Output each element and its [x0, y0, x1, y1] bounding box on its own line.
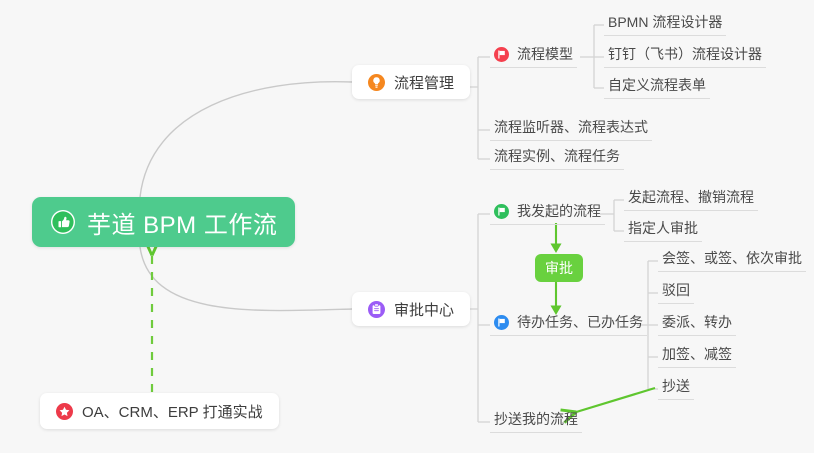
arrow-cc-to-ccme: [573, 388, 655, 413]
lightbulb-icon: [368, 74, 385, 91]
green-flag-icon: [494, 204, 509, 219]
node-multi-sign[interactable]: 会签、或签、依次审批: [658, 245, 806, 272]
node-process-model-label: 流程模型: [517, 44, 573, 64]
node-dingtalk-feishu-designer-label: 钉钉（飞书）流程设计器: [608, 44, 762, 64]
branch-approval-center-label: 审批中心: [394, 299, 454, 320]
node-reject[interactable]: 驳回: [658, 277, 694, 304]
node-add-remove-sign-label: 加签、减签: [662, 344, 732, 364]
node-bpmn-designer-label: BPMN 流程设计器: [608, 12, 722, 32]
node-todo-done-tasks-label: 待办任务、已办任务: [517, 312, 643, 332]
node-instance-task-label: 流程实例、流程任务: [494, 146, 620, 166]
branch-approval-center[interactable]: 审批中心: [352, 292, 470, 326]
node-dingtalk-feishu-designer[interactable]: 钉钉（飞书）流程设计器: [604, 41, 766, 68]
edge-root-to-approval-center: [140, 247, 352, 311]
node-cc-to-me[interactable]: 抄送我的流程: [490, 406, 582, 433]
node-custom-process-form-label: 自定义流程表单: [608, 75, 706, 95]
node-cc-label: 抄送: [662, 376, 690, 396]
node-start-cancel[interactable]: 发起流程、撤销流程: [624, 184, 758, 211]
node-bpmn-designer[interactable]: BPMN 流程设计器: [604, 9, 726, 36]
branch-process-management[interactable]: 流程管理: [352, 65, 470, 99]
node-add-remove-sign[interactable]: 加签、减签: [658, 341, 736, 368]
node-delegate-transfer-label: 委派、转办: [662, 312, 732, 332]
node-process-model[interactable]: 流程模型: [490, 41, 577, 68]
mindmap-canvas: 芋道 BPM 工作流 流程管理 审批中心: [0, 0, 814, 453]
node-my-initiated[interactable]: 我发起的流程: [490, 198, 605, 225]
node-multi-sign-label: 会签、或签、依次审批: [662, 248, 802, 268]
red-flag-icon: [494, 47, 509, 62]
branch-process-management-label: 流程管理: [394, 72, 454, 93]
annotation-approval-tag-label: 审批: [545, 258, 573, 278]
thumbs-up-icon: [50, 209, 76, 235]
annotation-integration-note[interactable]: OA、CRM、ERP 打通实战: [40, 393, 279, 429]
node-todo-done-tasks[interactable]: 待办任务、已办任务: [490, 309, 647, 336]
node-listener-expression-label: 流程监听器、流程表达式: [494, 117, 648, 137]
blue-flag-icon: [494, 315, 509, 330]
star-icon: [56, 403, 73, 420]
root-node-label: 芋道 BPM 工作流: [87, 205, 277, 240]
annotation-integration-note-label: OA、CRM、ERP 打通实战: [82, 401, 263, 422]
node-listener-expression[interactable]: 流程监听器、流程表达式: [490, 114, 652, 141]
node-assignee-approval[interactable]: 指定人审批: [624, 215, 702, 242]
node-delegate-transfer[interactable]: 委派、转办: [658, 309, 736, 336]
annotation-approval-tag[interactable]: 审批: [535, 254, 583, 282]
node-cc[interactable]: 抄送: [658, 373, 694, 400]
node-instance-task[interactable]: 流程实例、流程任务: [490, 143, 624, 170]
node-start-cancel-label: 发起流程、撤销流程: [628, 187, 754, 207]
node-cc-to-me-label: 抄送我的流程: [494, 409, 578, 429]
edge-root-to-process-management: [140, 82, 352, 197]
node-assignee-approval-label: 指定人审批: [628, 218, 698, 238]
node-custom-process-form[interactable]: 自定义流程表单: [604, 72, 710, 99]
node-reject-label: 驳回: [662, 280, 690, 300]
root-node[interactable]: 芋道 BPM 工作流: [32, 197, 295, 247]
clipboard-icon: [368, 301, 385, 318]
node-my-initiated-label: 我发起的流程: [517, 201, 601, 221]
